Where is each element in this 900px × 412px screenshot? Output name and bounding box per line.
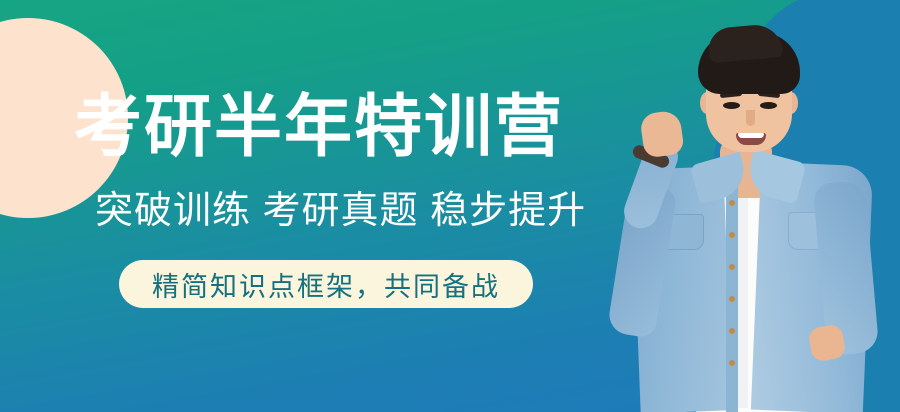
nose xyxy=(746,110,755,126)
hair-fringe xyxy=(707,23,784,63)
tagline-pill: 精简知识点框架，共同备战 xyxy=(119,260,533,308)
tagline-pill-text: 精简知识点框架，共同备战 xyxy=(152,265,500,304)
jacket-button xyxy=(729,232,735,238)
jacket-button xyxy=(729,296,735,302)
raised-fist xyxy=(639,109,685,158)
eye-right xyxy=(760,102,777,109)
jacket-button xyxy=(729,264,735,270)
banner-headline: 考研半年特训营 xyxy=(74,93,564,161)
banner-content: 考研半年特训营 突破训练 考研真题 稳步提升 精简知识点框架，共同备战 xyxy=(0,0,620,412)
jacket-button xyxy=(729,360,735,366)
jacket-button xyxy=(729,328,735,334)
promo-banner: 考研半年特训营 突破训练 考研真题 稳步提升 精简知识点框架，共同备战 xyxy=(0,0,900,412)
jacket-button xyxy=(729,200,735,206)
student-photo xyxy=(612,0,900,412)
teeth xyxy=(738,133,764,138)
eye-left xyxy=(723,102,740,109)
banner-subtitle: 突破训练 考研真题 稳步提升 xyxy=(95,192,586,230)
